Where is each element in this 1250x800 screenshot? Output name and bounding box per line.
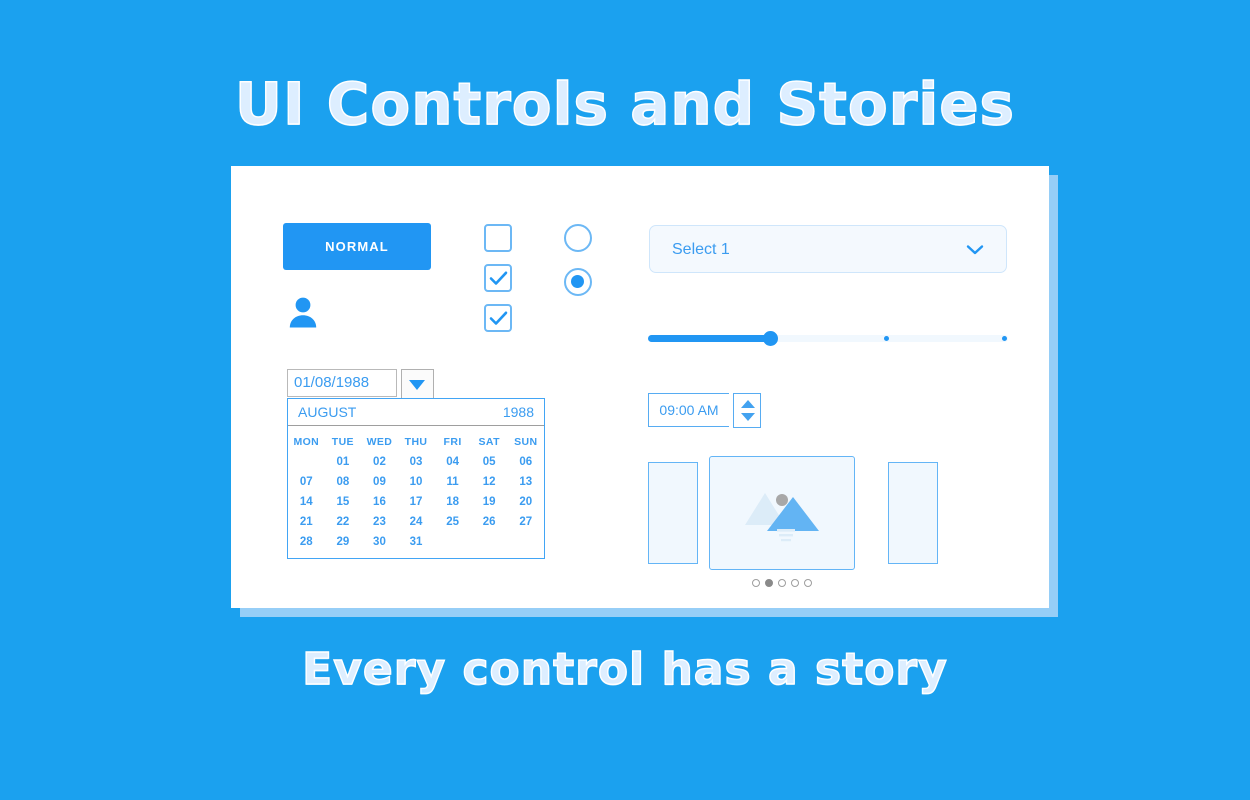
time-input[interactable]: 09:00 AM xyxy=(648,393,729,427)
calendar-day[interactable]: 08 xyxy=(325,472,362,492)
triangle-down-icon xyxy=(409,380,425,390)
time-spinner: 09:00 AM xyxy=(648,393,761,428)
checkbox-checked-1[interactable] xyxy=(484,264,512,292)
calendar-day[interactable]: 04 xyxy=(434,452,471,472)
calendar-grid: MON TUE WED THU FRI SAT SUN 01 02 03 04 … xyxy=(288,426,544,558)
checkbox-checked-2[interactable] xyxy=(484,304,512,332)
calendar-week-row: 07 08 09 10 11 12 13 xyxy=(288,472,544,492)
calendar-week-row: 01 02 03 04 05 06 xyxy=(288,452,544,472)
carousel-dot[interactable] xyxy=(804,579,812,587)
calendar-day[interactable]: 15 xyxy=(325,492,362,512)
image-placeholder-icon xyxy=(741,483,825,550)
calendar-day[interactable]: 30 xyxy=(361,532,398,552)
calendar-weekday-row: MON TUE WED THU FRI SAT SUN xyxy=(288,430,544,452)
page-title: UI Controls and Stories xyxy=(0,72,1250,136)
weekday-thu: THU xyxy=(398,430,435,452)
calendar-day[interactable]: 28 xyxy=(288,532,325,552)
calendar-day[interactable] xyxy=(471,532,508,552)
triangle-down-icon[interactable] xyxy=(741,413,755,421)
calendar-month: AUGUST xyxy=(298,399,356,425)
carousel-dot[interactable] xyxy=(791,579,799,587)
calendar-day[interactable] xyxy=(507,532,544,552)
calendar-popup: AUGUST 1988 MON TUE WED THU FRI SAT SUN … xyxy=(287,398,545,559)
carousel xyxy=(648,456,938,576)
weekday-fri: FRI xyxy=(434,430,471,452)
person-icon xyxy=(285,294,321,330)
carousel-dot[interactable] xyxy=(752,579,760,587)
controls-card: NORMAL 01/08/1988 AUGUST 1988 xyxy=(231,166,1049,608)
calendar-week-row: 21 22 23 24 25 26 27 xyxy=(288,512,544,532)
select-value: Select 1 xyxy=(672,241,730,259)
calendar-day[interactable] xyxy=(434,532,471,552)
calendar-day[interactable]: 19 xyxy=(471,492,508,512)
calendar-header: AUGUST 1988 xyxy=(288,399,544,426)
slider-tick xyxy=(884,336,889,341)
weekday-sat: SAT xyxy=(471,430,508,452)
slider-fill xyxy=(648,335,770,342)
calendar-day[interactable]: 26 xyxy=(471,512,508,532)
slider-thumb[interactable] xyxy=(763,331,778,346)
carousel-pagination xyxy=(709,574,855,592)
checkbox-unchecked[interactable] xyxy=(484,224,512,252)
date-input[interactable]: 01/08/1988 xyxy=(287,369,397,397)
calendar-day[interactable]: 21 xyxy=(288,512,325,532)
calendar-day[interactable]: 29 xyxy=(325,532,362,552)
calendar-day[interactable]: 13 xyxy=(507,472,544,492)
calendar-day[interactable]: 18 xyxy=(434,492,471,512)
calendar-day[interactable]: 12 xyxy=(471,472,508,492)
radio-unselected[interactable] xyxy=(564,224,592,252)
radio-selected[interactable] xyxy=(564,268,592,296)
calendar-week-row: 28 29 30 31 xyxy=(288,532,544,552)
calendar-day[interactable]: 11 xyxy=(434,472,471,492)
calendar-day[interactable]: 23 xyxy=(361,512,398,532)
calendar-day[interactable]: 31 xyxy=(398,532,435,552)
page-subtitle: Every control has a story xyxy=(0,645,1250,695)
weekday-wed: WED xyxy=(361,430,398,452)
slider[interactable] xyxy=(648,331,1008,345)
normal-button[interactable]: NORMAL xyxy=(283,223,431,270)
calendar-day[interactable]: 10 xyxy=(398,472,435,492)
carousel-dot[interactable] xyxy=(778,579,786,587)
calendar-week-row: 14 15 16 17 18 19 20 xyxy=(288,492,544,512)
carousel-panel-next[interactable] xyxy=(888,462,938,564)
weekday-sun: SUN xyxy=(507,430,544,452)
calendar-day[interactable] xyxy=(288,452,325,472)
radio-dot xyxy=(571,275,584,288)
calendar-day[interactable]: 25 xyxy=(434,512,471,532)
chevron-down-icon xyxy=(966,243,984,261)
select-dropdown[interactable]: Select 1 xyxy=(649,225,1007,273)
calendar-day[interactable]: 02 xyxy=(361,452,398,472)
calendar-day[interactable]: 03 xyxy=(398,452,435,472)
calendar-day[interactable]: 17 xyxy=(398,492,435,512)
check-icon xyxy=(489,270,508,286)
calendar-day[interactable]: 01 xyxy=(325,452,362,472)
carousel-dot[interactable] xyxy=(765,579,773,587)
calendar-day[interactable]: 22 xyxy=(325,512,362,532)
weekday-tue: TUE xyxy=(325,430,362,452)
calendar-day[interactable]: 06 xyxy=(507,452,544,472)
carousel-panel-previous[interactable] xyxy=(648,462,698,564)
calendar-day[interactable]: 24 xyxy=(398,512,435,532)
calendar-day[interactable]: 05 xyxy=(471,452,508,472)
calendar-day[interactable]: 16 xyxy=(361,492,398,512)
weekday-mon: MON xyxy=(288,430,325,452)
check-icon xyxy=(489,310,508,326)
calendar-year: 1988 xyxy=(503,399,534,425)
calendar-day[interactable]: 27 xyxy=(507,512,544,532)
carousel-panel-active[interactable] xyxy=(709,456,855,570)
calendar-day[interactable]: 09 xyxy=(361,472,398,492)
date-picker: 01/08/1988 xyxy=(287,369,434,399)
date-dropdown-button[interactable] xyxy=(401,369,434,399)
triangle-up-icon[interactable] xyxy=(741,400,755,408)
calendar-day[interactable]: 20 xyxy=(507,492,544,512)
time-stepper-buttons[interactable] xyxy=(733,393,761,428)
calendar-day[interactable]: 07 xyxy=(288,472,325,492)
calendar-day[interactable]: 14 xyxy=(288,492,325,512)
